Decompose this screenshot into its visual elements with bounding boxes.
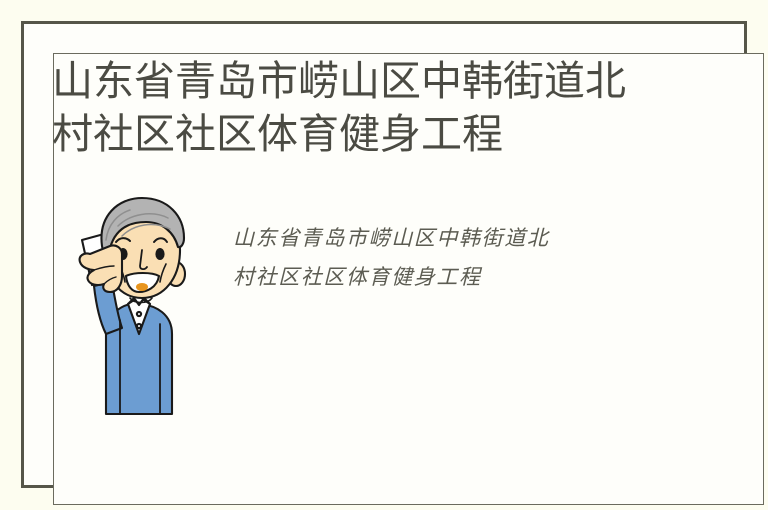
elderly-man-on-phone-illustration [60, 192, 200, 417]
hand-holding-phone [80, 245, 122, 292]
tongue [136, 283, 148, 291]
eye-right [155, 248, 164, 260]
shirt-button-lower [137, 324, 141, 328]
page-root: 山东省青岛市崂山区中韩街道北 村社区社区体育健身工程 [0, 0, 768, 510]
shirt-button-upper [137, 312, 141, 316]
elderly-man-on-phone-graphic [60, 192, 200, 417]
page-title: 山东省青岛市崂山区中韩街道北 村社区社区体育健身工程 [52, 55, 712, 161]
caption-text: 山东省青岛市崂山区中韩街道北 村社区社区体育健身工程 [233, 219, 663, 297]
